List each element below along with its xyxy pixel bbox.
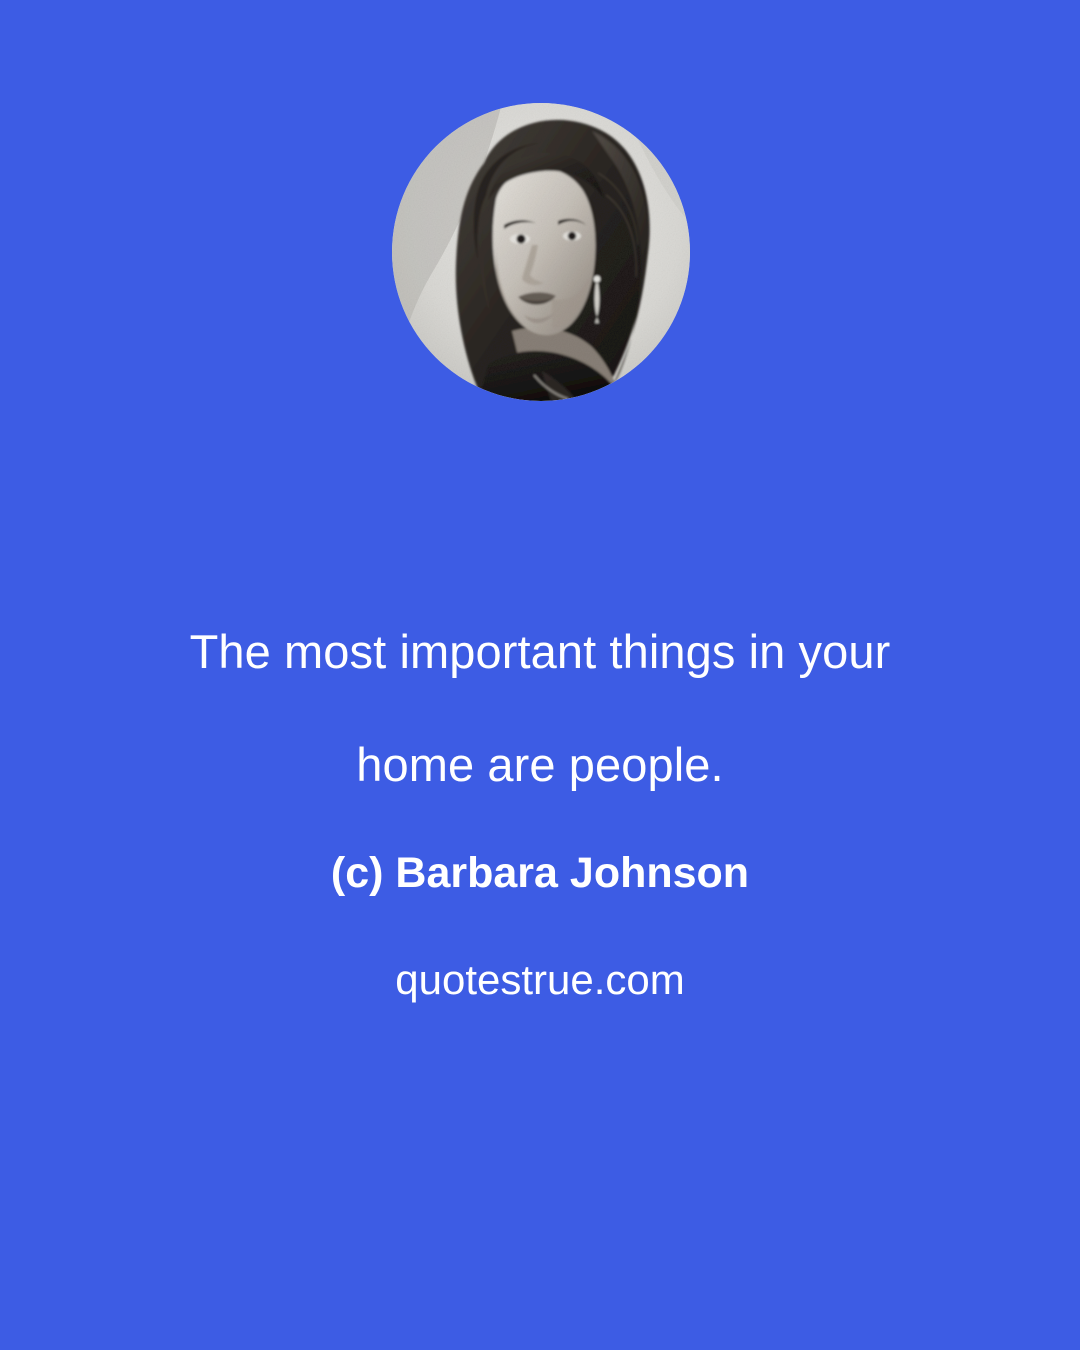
quote-card: The most important things in your home a…	[0, 0, 1080, 1350]
avatar	[392, 103, 690, 401]
quote-text-block: The most important things in your home a…	[0, 600, 1080, 1001]
quote-line-1: The most important things in your	[0, 628, 1080, 675]
quote-attribution: (c) Barbara Johnson	[0, 852, 1080, 895]
source-website[interactable]: quotestrue.com	[0, 959, 1080, 1001]
portrait-photo-icon	[392, 103, 690, 401]
quote-line-2: home are people.	[0, 741, 1080, 788]
